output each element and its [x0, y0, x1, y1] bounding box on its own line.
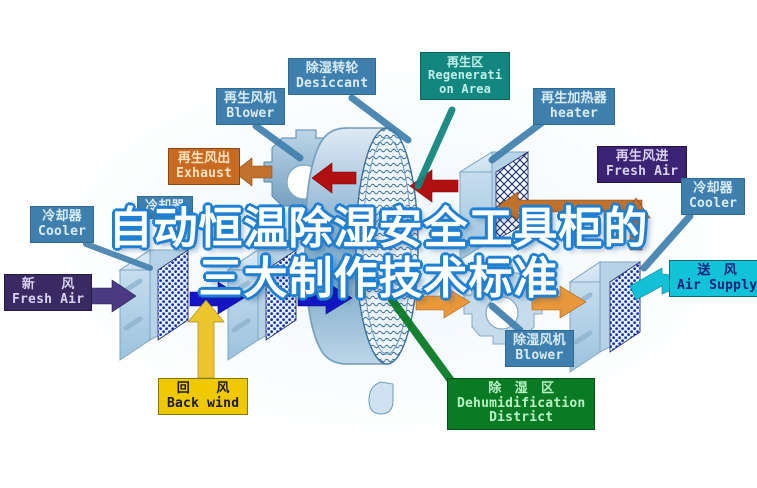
label-regen-area-cn: 再生区	[428, 56, 502, 69]
label-back-wind-en: Back wind	[167, 397, 239, 412]
label-cooler-right-cn: 冷却器	[689, 182, 737, 197]
label-desiccant-cn: 除湿转轮	[296, 62, 368, 77]
label-regen-fresh-air-cn: 再生风进	[606, 150, 678, 165]
label-dehum-blower-en: Blower	[513, 349, 566, 364]
dehumidifier-schematic: XT	[0, 0, 757, 488]
label-fresh-air-en: Fresh Air	[12, 293, 84, 308]
label-regen-fresh-air-en: Fresh Air	[606, 165, 678, 180]
label-regen-heater-cn: 再生加热器	[541, 92, 607, 107]
label-desiccant-en: Desiccant	[296, 77, 368, 92]
label-cooler-left-1[interactable]: 冷却器 Cooler	[30, 206, 94, 243]
label-air-supply-en: Air Supply	[677, 279, 757, 294]
diagram-canvas: XT	[0, 0, 757, 488]
svg-text:XT: XT	[352, 309, 366, 321]
label-regen-heater[interactable]: 再生加热器 heater	[533, 88, 615, 125]
label-regen-fresh-air[interactable]: 再生风进 Fresh Air	[597, 146, 687, 183]
label-dehum-district[interactable]: 除 湿 区 Dehumidification District	[447, 378, 595, 430]
label-back-wind-cn: 回 风	[167, 382, 239, 397]
label-back-wind[interactable]: 回 风 Back wind	[158, 378, 248, 415]
label-dehum-blower-cn: 除湿风机	[513, 334, 566, 349]
label-air-supply[interactable]: 送 风 Air Supply	[669, 260, 757, 297]
label-dehum-district-en2: District	[457, 411, 585, 426]
label-dehum-district-en: Dehumidification	[457, 397, 585, 412]
label-regen-blower-en: Blower	[224, 107, 277, 122]
label-cooler-left-1-cn: 冷却器	[38, 210, 86, 225]
label-cooler-right-en: Cooler	[689, 197, 737, 212]
label-regen-area-en: Regenerati	[428, 69, 502, 82]
label-air-supply-cn: 送 风	[677, 264, 757, 279]
label-regen-heater-en: heater	[541, 107, 607, 122]
label-desiccant[interactable]: 除湿转轮 Desiccant	[288, 58, 376, 95]
label-regen-area-en2: on Area	[428, 83, 502, 96]
label-dehum-blower[interactable]: 除湿风机 Blower	[505, 330, 574, 367]
label-fresh-air-cn: 新 风	[12, 278, 84, 293]
label-cooler-left-2[interactable]: 冷却器	[137, 196, 193, 219]
label-cooler-left-2-cn: 冷却器	[145, 200, 185, 215]
label-exhaust-en: Exhaust	[176, 167, 232, 182]
label-regen-blower-cn: 再生风机	[224, 92, 277, 107]
label-regen-blower[interactable]: 再生风机 Blower	[216, 88, 285, 125]
label-exhaust-cn: 再生风出	[176, 152, 232, 167]
label-dehum-district-cn: 除 湿 区	[457, 382, 585, 397]
label-cooler-right[interactable]: 冷却器 Cooler	[681, 178, 745, 215]
label-cooler-left-1-en: Cooler	[38, 225, 86, 240]
label-exhaust[interactable]: 再生风出 Exhaust	[168, 148, 240, 185]
label-regen-area[interactable]: 再生区 Regenerati on Area	[420, 52, 510, 100]
label-fresh-air[interactable]: 新 风 Fresh Air	[4, 274, 92, 311]
